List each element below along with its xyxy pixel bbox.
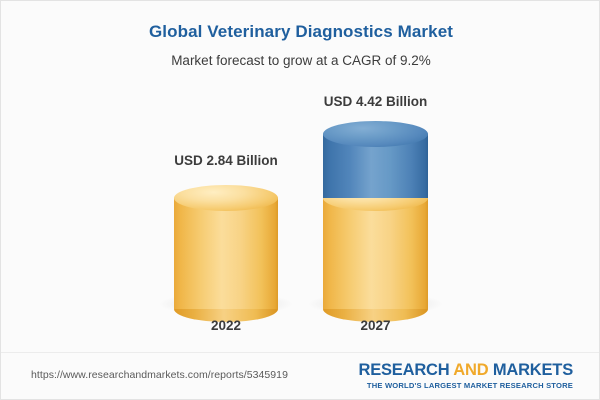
research-and-markets-logo[interactable]: RESEARCH AND MARKETS THE WORLD'S LARGEST… [358,361,573,391]
x-axis-label-2027: 2027 [323,318,428,333]
bar-segment-2022-base [174,198,278,309]
cylinder-bar-2022[interactable] [174,198,278,309]
logo-wordmark: RESEARCH AND MARKETS [358,361,573,379]
report-url-link[interactable]: https://www.researchandmarkets.com/repor… [31,369,288,381]
bar-group-2022: USD 2.84 Billion 2022 [174,1,278,353]
bar-value-label-2022: USD 2.84 Billion [174,153,278,168]
cylinder-top-cap-icon [323,121,428,147]
bar-segment-2027-growth [323,134,428,198]
bar-segment-2027-base [323,198,428,309]
infographic-card: Global Veterinary Diagnostics Market Mar… [0,0,600,400]
logo-word-research: RESEARCH [358,361,453,379]
logo-tagline: THE WORLD'S LARGEST MARKET RESEARCH STOR… [358,381,573,391]
x-axis-label-2022: 2022 [174,318,278,333]
bar-group-2027: USD 4.42 Billion 2027 [323,1,428,353]
footer: https://www.researchandmarkets.com/repor… [1,352,600,399]
cylinder-bar-2027[interactable] [323,134,428,309]
cylinder-body [323,198,428,309]
logo-word-markets: MARKETS [493,361,573,379]
cylinder-top-cap-icon [174,185,278,211]
chart-plot-area: USD 2.84 Billion 2022 USD 4.42 Billion [1,1,600,353]
bar-value-label-2027: USD 4.42 Billion [323,94,428,109]
logo-word-and: AND [453,361,493,379]
cylinder-body [174,198,278,309]
